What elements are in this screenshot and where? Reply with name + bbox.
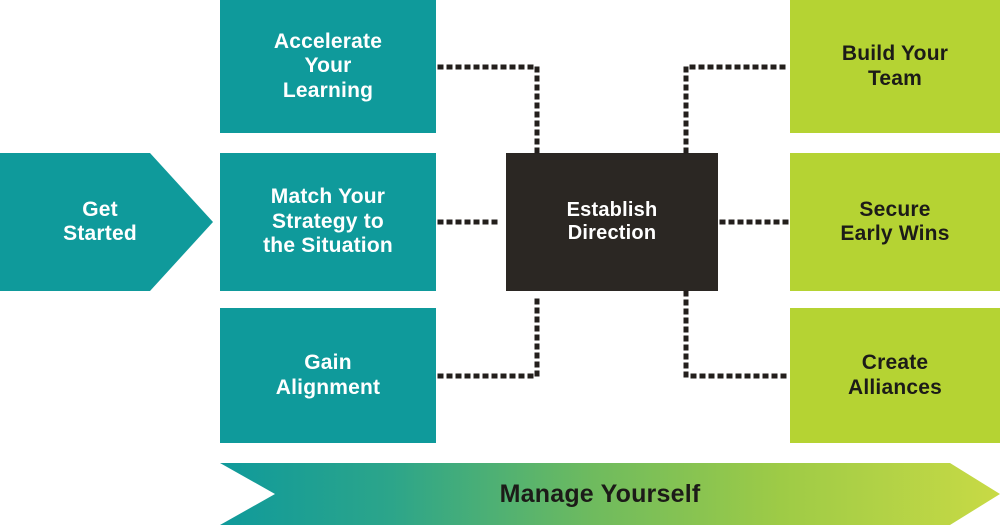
box-gain-alignment[interactable] [220, 308, 436, 443]
box-secure-early-wins[interactable] [790, 153, 1000, 291]
box-accelerate-your-learning[interactable] [220, 0, 436, 133]
manage-yourself-banner-arrow[interactable] [220, 463, 1000, 525]
connector-center-to-build [686, 67, 787, 151]
box-build-your-team[interactable] [790, 0, 1000, 133]
connector-center-to-create [686, 293, 787, 376]
connector-gain-to-center [440, 293, 537, 376]
connector-accelerate-to-center [440, 67, 537, 151]
leadership-framework-diagram: Get Started Accelerate Your Learning Mat… [0, 0, 1000, 525]
get-started-arrow[interactable] [0, 153, 213, 291]
box-match-your-strategy[interactable] [220, 153, 436, 291]
box-create-alliances[interactable] [790, 308, 1000, 443]
diagram-canvas [0, 0, 1000, 525]
box-establish-direction[interactable] [506, 153, 718, 291]
